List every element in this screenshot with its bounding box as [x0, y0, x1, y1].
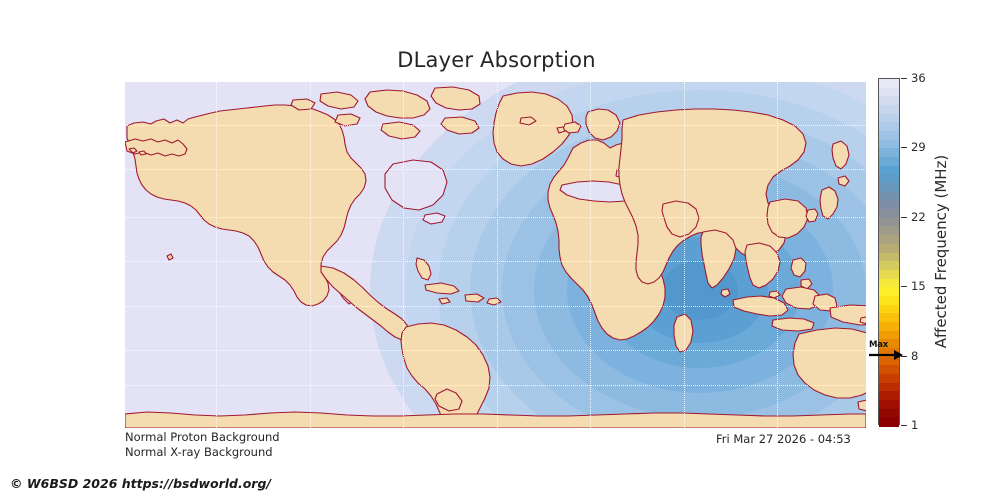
colorbar-tick-36 [901, 78, 907, 79]
korea-peninsula [806, 209, 818, 222]
south-america-landmass [401, 323, 490, 428]
colorbar-tick-15 [901, 286, 907, 287]
max-arrow-icon [868, 348, 904, 362]
canadian-arctic-1 [365, 90, 430, 118]
colorbar-tick-29 [901, 147, 907, 148]
colorbar-tick-label-8: 8 [911, 349, 918, 363]
antarctica-landmass [125, 412, 866, 428]
copyright-label: © W6BSD 2026 https://bsdworld.org/ [10, 476, 271, 491]
philippines-luzon [791, 258, 806, 277]
canadian-arctic-3 [320, 92, 358, 109]
colorbar-tick-label-15: 15 [911, 279, 926, 293]
india-subcontinent [701, 230, 736, 288]
baffin-island [381, 122, 420, 139]
colorbar[interactable]: 1815222936 [878, 78, 900, 425]
alaska-coast [125, 139, 187, 156]
hawaii-island [167, 254, 173, 260]
japan-islands [820, 187, 838, 219]
sri-lanka-island [721, 289, 730, 297]
scandinavia [586, 109, 620, 140]
colorbar-tick-label-29: 29 [911, 140, 926, 154]
madagascar-island [674, 314, 693, 352]
china-east-coast [767, 199, 808, 238]
coastline-map [125, 82, 866, 428]
aleutian-island-2 [139, 151, 146, 155]
cuba-island [425, 283, 459, 294]
page-title: DLayer Absorption [0, 48, 993, 72]
world-map-panel[interactable] [125, 82, 866, 428]
max-level-marker: Max [868, 340, 904, 362]
colorbar-axis-label: Affected Frequency (MHz) [930, 78, 1000, 425]
colorbar-tick-label-1: 1 [911, 418, 918, 432]
ellesmere-island [441, 117, 479, 134]
puerto-rico-island [487, 298, 501, 305]
sumatra-island [733, 296, 788, 316]
tasmania-island [858, 400, 866, 411]
hudson-bay [385, 160, 447, 210]
colorbar-tick-1 [901, 425, 907, 426]
colorbar-tick-label-22: 22 [911, 210, 926, 224]
hispaniola-island [465, 294, 484, 302]
dlayer-absorption-figure: DLayer Absorption [0, 0, 1000, 500]
colorbar-tick-label-36: 36 [911, 71, 926, 85]
xray-background-status: Normal X-ray Background [125, 445, 273, 459]
colorbar-tick-22 [901, 217, 907, 218]
colorbar-gradient [878, 78, 900, 425]
central-america [321, 266, 410, 340]
canadian-arctic-2 [431, 87, 480, 110]
jamaica-island [439, 298, 450, 304]
florida-peninsula [416, 258, 431, 280]
kamchatka-peninsula [832, 141, 849, 169]
java-island [772, 318, 814, 331]
uk-ireland [563, 122, 581, 133]
hokkaido-island [838, 176, 849, 186]
australia-landmass [793, 328, 866, 398]
colorbar-band-40 [879, 417, 899, 426]
timestamp-label: Fri Mar 27 2026 - 04:53 [716, 432, 851, 446]
proton-background-status: Normal Proton Background [125, 430, 280, 444]
small-island-1 [769, 291, 780, 298]
great-lakes [423, 213, 445, 224]
